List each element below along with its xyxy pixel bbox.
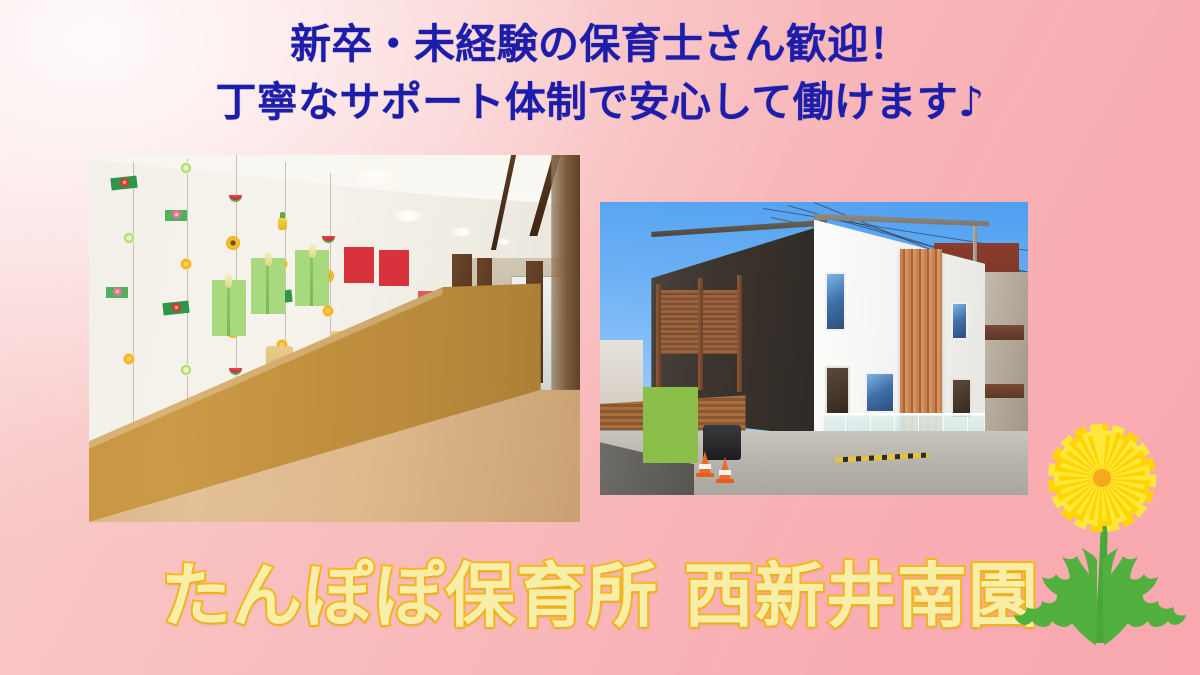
decoration-leaf-flower-2 bbox=[162, 300, 189, 315]
wall-art-berries-1 bbox=[344, 247, 374, 283]
traffic-cone-1 bbox=[698, 451, 712, 477]
headline-line-2: 丁寧なサポート体制で安心して働けます♪ bbox=[0, 76, 1200, 128]
banner-stage: 新卒・未経験の保育士さん歓迎！ 丁寧なサポート体制で安心して働けます♪ bbox=[0, 0, 1200, 675]
traffic-cone-2 bbox=[718, 457, 732, 483]
ceiling-light-3 bbox=[452, 228, 472, 235]
dandelion-icon bbox=[1000, 415, 1200, 675]
photo-nursery-hallway bbox=[89, 155, 580, 522]
building-window-upper-2 bbox=[951, 302, 968, 340]
building-window-lower-1 bbox=[865, 372, 895, 413]
dandelion-leaf-right bbox=[1103, 548, 1186, 645]
balcony-post-2 bbox=[698, 278, 703, 389]
hanging-string-1 bbox=[133, 162, 134, 426]
neighbor-balcony-1 bbox=[981, 325, 1024, 340]
building-entrance-door bbox=[825, 366, 851, 416]
neighbor-balcony-2 bbox=[981, 384, 1024, 399]
building-shrub bbox=[643, 387, 699, 463]
building-wood-louver-panel bbox=[900, 249, 943, 431]
dandelion-center bbox=[1093, 469, 1111, 487]
dandelion-leaf-left bbox=[1014, 548, 1097, 645]
decoration-orange-2 bbox=[180, 258, 192, 270]
wall-art-plant-2 bbox=[251, 258, 285, 314]
traffic-cone-band-1 bbox=[699, 464, 711, 469]
balcony-post-1 bbox=[656, 284, 661, 389]
balcony-post-3 bbox=[737, 275, 742, 392]
headline-line-1: 新卒・未経験の保育士さん歓迎！ bbox=[0, 18, 1200, 70]
wall-art-berries-2 bbox=[379, 250, 409, 286]
building-window-upper-1 bbox=[825, 272, 846, 331]
ceiling-light-2 bbox=[393, 210, 422, 221]
photo-building-exterior bbox=[600, 202, 1028, 495]
wall-art-plant-3 bbox=[295, 250, 329, 306]
decoration-pink-flower-1 bbox=[106, 287, 128, 298]
headline: 新卒・未経験の保育士さん歓迎！ 丁寧なサポート体制で安心して働けます♪ bbox=[0, 18, 1200, 129]
decoration-pink-flower-2 bbox=[165, 210, 187, 221]
decoration-pineapple-1 bbox=[278, 217, 287, 230]
traffic-cone-band-2 bbox=[719, 470, 731, 475]
hanging-string-2 bbox=[187, 159, 188, 427]
wall-art-plant-1 bbox=[212, 280, 246, 336]
